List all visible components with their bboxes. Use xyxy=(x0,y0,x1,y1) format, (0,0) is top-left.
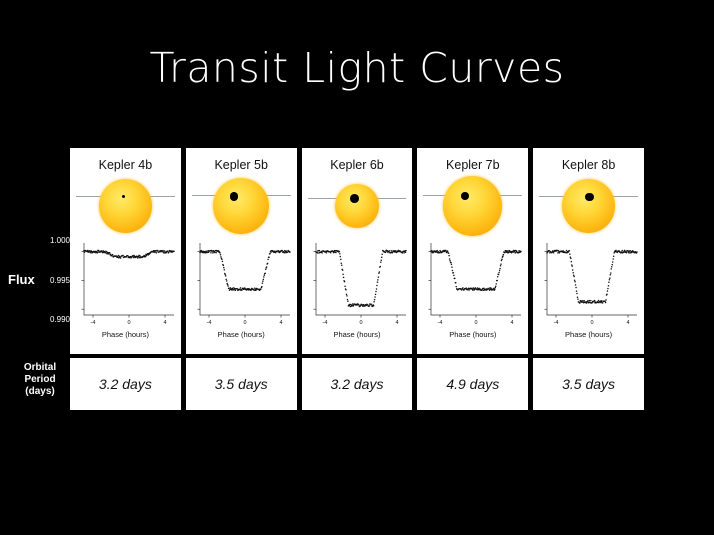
orbital-period-row: 3.2 days3.5 days3.2 days4.9 days3.5 days xyxy=(70,358,644,410)
light-curve-plot-1: -404Phase (hours) xyxy=(70,237,181,341)
phase-axis-label-3: Phase (hours) xyxy=(302,330,413,339)
phase-axis-label-2: Phase (hours) xyxy=(186,330,297,339)
svg-text:4: 4 xyxy=(395,320,398,326)
light-curve-panel: Kepler 6b-404Phase (hours) xyxy=(302,148,413,354)
light-curve-panel: Kepler 5b-404Phase (hours) xyxy=(186,148,297,354)
svg-text:4: 4 xyxy=(163,320,166,326)
svg-text:-4: -4 xyxy=(206,320,211,326)
phase-axis-label-4: Phase (hours) xyxy=(417,330,528,339)
flux-tick-0: 1.000 xyxy=(50,236,70,245)
planet-disk-3 xyxy=(350,194,359,203)
star-disk-5 xyxy=(562,179,615,232)
svg-text:0: 0 xyxy=(243,320,246,326)
flux-tick-2: 0.990 xyxy=(50,315,70,324)
orbital-period-value-3: 3.2 days xyxy=(302,358,413,410)
panel-title-1: Kepler 4b xyxy=(99,158,153,172)
svg-text:0: 0 xyxy=(359,320,362,326)
svg-text:0: 0 xyxy=(127,320,130,326)
page-title: Transit Light Curves xyxy=(0,44,714,92)
light-curve-panel: Kepler 7b-404Phase (hours) xyxy=(417,148,528,354)
light-curve-panel: Kepler 4b-404Phase (hours) xyxy=(70,148,181,354)
phase-axis-label-5: Phase (hours) xyxy=(533,330,644,339)
slide-root: Transit Light Curves Flux 1.000 0.995 0.… xyxy=(0,0,714,535)
orbital-period-label-line-1: Period xyxy=(12,374,68,386)
panel-title-2: Kepler 5b xyxy=(214,158,268,172)
orbital-period-row-label: OrbitalPeriod(days) xyxy=(12,362,68,398)
svg-text:-4: -4 xyxy=(91,320,96,326)
svg-text:4: 4 xyxy=(511,320,514,326)
orbital-period-label-line-0: Orbital xyxy=(12,362,68,374)
star-diagram xyxy=(417,175,528,237)
phase-axis-label-1: Phase (hours) xyxy=(70,330,181,339)
light-curve-plot-4: -404Phase (hours) xyxy=(417,237,528,341)
panel-title-5: Kepler 8b xyxy=(562,158,616,172)
svg-text:4: 4 xyxy=(279,320,282,326)
star-diagram xyxy=(70,175,181,237)
svg-text:4: 4 xyxy=(627,320,630,326)
orbital-period-value-5: 3.5 days xyxy=(533,358,644,410)
svg-text:0: 0 xyxy=(475,320,478,326)
star-disk-4 xyxy=(443,176,502,235)
light-curve-plot-2: -404Phase (hours) xyxy=(186,237,297,341)
orbital-period-value-2: 3.5 days xyxy=(186,358,297,410)
planet-disk-5 xyxy=(585,193,594,202)
svg-text:-4: -4 xyxy=(554,320,559,326)
planet-disk-2 xyxy=(230,192,239,201)
orbital-period-value-4: 4.9 days xyxy=(417,358,528,410)
flux-tick-1: 0.995 xyxy=(50,276,70,285)
light-curve-panels: Kepler 4b-404Phase (hours)Kepler 5b-404P… xyxy=(70,148,644,354)
star-disk-3 xyxy=(335,184,379,228)
panel-title-3: Kepler 6b xyxy=(330,158,384,172)
svg-text:-4: -4 xyxy=(438,320,443,326)
star-disk-2 xyxy=(213,178,269,234)
orbital-period-label-line-2: (days) xyxy=(12,386,68,398)
panel-title-4: Kepler 7b xyxy=(446,158,500,172)
svg-text:-4: -4 xyxy=(322,320,327,326)
svg-text:0: 0 xyxy=(591,320,594,326)
star-disk-1 xyxy=(99,179,152,232)
light-curve-panel: Kepler 8b-404Phase (hours) xyxy=(533,148,644,354)
star-diagram xyxy=(533,175,644,237)
orbital-period-value-1: 3.2 days xyxy=(70,358,181,410)
light-curve-plot-3: -404Phase (hours) xyxy=(302,237,413,341)
star-diagram xyxy=(302,175,413,237)
star-diagram xyxy=(186,175,297,237)
planet-disk-4 xyxy=(461,192,469,200)
light-curve-plot-5: -404Phase (hours) xyxy=(533,237,644,341)
flux-axis-title: Flux xyxy=(8,272,35,287)
